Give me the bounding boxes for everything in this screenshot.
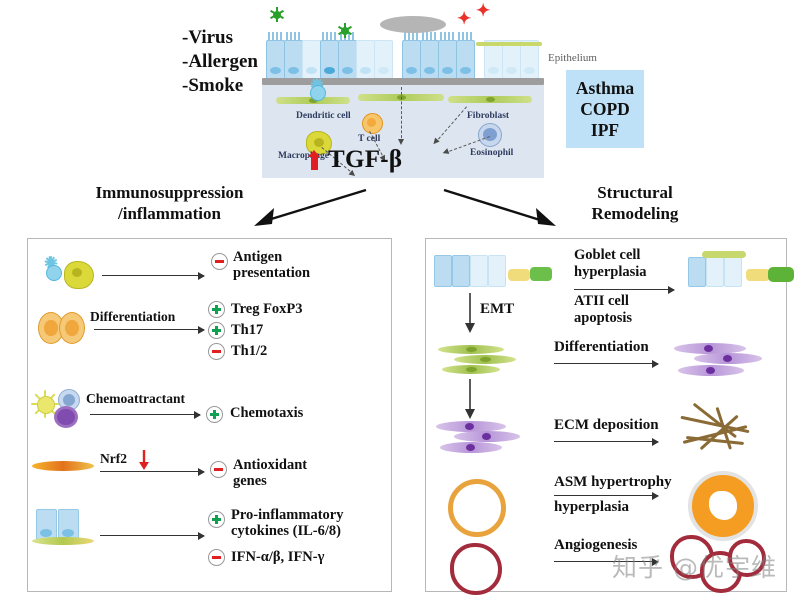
- epithelial-cell: [420, 40, 439, 80]
- submucosa-region: Dendritic cell T cell Macrophage Fibrobl…: [262, 85, 544, 178]
- outcome-chemotaxis: Chemotaxis: [230, 405, 303, 421]
- signal-arrow: [435, 106, 467, 143]
- row-arrow: [102, 275, 204, 276]
- cilia: [456, 32, 473, 41]
- outcome-th17: Th17: [231, 322, 263, 338]
- t-cell-icon: [362, 113, 383, 134]
- disease-asthma: Asthma: [576, 78, 634, 99]
- chemoattractant-label: Chemoattractant: [86, 391, 185, 406]
- minus-sign-icon: [208, 343, 225, 360]
- disease-ipf: IPF: [591, 120, 619, 141]
- virus-particle-icon: [270, 8, 283, 21]
- macrophage-icon: [64, 261, 94, 289]
- outcome-treg-foxp3: Treg FoxP3: [231, 301, 303, 317]
- smoke-cloud-icon: [380, 16, 446, 33]
- structural-remodeling-panel: Goblet cell hyperplasia ATII cell apopto…: [425, 238, 787, 592]
- cilia: [266, 32, 283, 41]
- signal-arrow: [401, 87, 402, 143]
- left-branch-title-line2: /inflammation: [62, 203, 277, 224]
- plus-sign-icon: [206, 406, 223, 423]
- goblet-epithelium-strip-icon: [688, 257, 803, 291]
- outcome-antigen-presentation: Antigen presentation: [233, 249, 310, 281]
- asm-hyperplasia-label: hyperplasia: [554, 499, 629, 516]
- right-branch-arrow: [440, 186, 560, 230]
- nrf2-label: Nrf2: [100, 451, 127, 466]
- flat-cell-icon: [32, 537, 94, 545]
- row-arrow: [554, 363, 658, 364]
- dendritic-cell-icon: [302, 77, 332, 107]
- tgf-beta-up-arrow-icon: [308, 150, 320, 170]
- epithelial-cell: [338, 40, 357, 80]
- ecm-deposition-label: ECM deposition: [554, 417, 659, 434]
- trigger-smoke: -Smoke: [182, 74, 258, 98]
- minus-sign-icon: [210, 461, 227, 478]
- thick-asm-ring-icon: [688, 471, 758, 541]
- virus-particle-icon: [338, 24, 351, 37]
- plus-sign-icon: [208, 511, 225, 528]
- thin-asm-ring-icon: [448, 479, 506, 537]
- row-arrow: [90, 414, 200, 415]
- collagen-fibers-icon: [680, 415, 758, 449]
- disease-box: Asthma COPD IPF: [566, 70, 644, 148]
- trigger-list: -Virus -Allergen -Smoke: [182, 26, 258, 98]
- epithelial-cell: [320, 40, 339, 80]
- outcome-th1-2: Th1/2: [231, 343, 267, 359]
- allergen-icon: ✦: [476, 2, 490, 19]
- outcome-pro-inflammatory-cytokines: Pro-inflammatory cytokines (IL-6/8): [231, 507, 343, 539]
- row-arrow: [554, 495, 658, 496]
- trigger-allergen: -Allergen: [182, 50, 258, 74]
- cilia: [402, 32, 419, 41]
- epithelial-cell: [402, 40, 421, 80]
- goblet-hyperplasia-label: Goblet cell hyperplasia: [574, 247, 647, 281]
- differentiation-label: Differentiation: [90, 309, 175, 324]
- left-branch-title-line1: Immunosuppression: [62, 182, 277, 203]
- outcome-interferons: IFN-α/β, IFN-γ: [231, 549, 324, 565]
- row-arrow: [100, 471, 204, 472]
- watermark: 知乎 @优宇维: [612, 548, 777, 584]
- differentiation-label: Differentiation: [554, 339, 649, 356]
- asm-hypertrophy-label: ASM hypertrophy: [554, 473, 672, 492]
- row-arrow: [94, 329, 204, 330]
- green-fibroblast-icon: [442, 365, 500, 374]
- epithelial-cell: [484, 40, 503, 80]
- epithelial-cell: [356, 40, 375, 80]
- epithelium-strip-icon: [434, 255, 544, 289]
- epithelial-cell: [438, 40, 457, 80]
- down-red-arrow-icon: [138, 449, 150, 471]
- row-arrow: [574, 289, 674, 290]
- green-fibroblast-icon: [454, 355, 516, 364]
- epithelial-cell: [284, 40, 303, 80]
- fibroblast-strip: [448, 96, 532, 103]
- epithelium-label: Epithelium: [548, 52, 597, 64]
- allergen-icon: ✦: [457, 10, 471, 27]
- minus-sign-icon: [211, 253, 228, 270]
- outcome-antioxidant-genes: Antioxidant genes: [233, 457, 307, 489]
- epithelial-cell: [302, 40, 321, 80]
- cilia: [284, 32, 301, 41]
- epithelium-band: [262, 30, 544, 78]
- round-cell-icon: [59, 312, 85, 344]
- flat-cell-icon: [32, 461, 94, 471]
- emt-arrow: [462, 293, 478, 335]
- epithelial-cell: [456, 40, 475, 80]
- t-cell-label: T cell: [358, 134, 380, 144]
- row-arrow: [100, 535, 204, 536]
- cilia: [420, 32, 437, 41]
- minus-sign-icon: [208, 549, 225, 566]
- myofibroblast-icon: [678, 365, 744, 376]
- macrophage-label: Macrophage: [278, 151, 329, 161]
- myofibroblast-icon: [694, 353, 762, 364]
- eosinophil-label: Eosinophil: [470, 148, 513, 158]
- epithelial-cell: [266, 40, 285, 80]
- emt-label: EMT: [480, 301, 514, 318]
- left-branch-title: Immunosuppression /inflammation: [62, 182, 277, 224]
- tgf-beta-label: TGF-β: [328, 146, 402, 174]
- immunosuppression-panel: Antigen presentation Differentiation Tre…: [27, 238, 392, 592]
- mucus-layer: [476, 42, 542, 46]
- disease-copd: COPD: [580, 99, 630, 120]
- right-branch-title-line1: Structural: [560, 182, 710, 203]
- right-branch-title: Structural Remodeling: [560, 182, 710, 224]
- airway-tissue-module: ✦ ✦ Dendritic cell T cell Macrophage Fib…: [262, 30, 544, 178]
- right-branch-title-line2: Remodeling: [560, 203, 710, 224]
- myofibroblast-icon: [440, 442, 502, 453]
- plus-sign-icon: [208, 301, 225, 318]
- dendritic-cell-label: Dendritic cell: [296, 111, 351, 121]
- epithelial-cell: [520, 40, 539, 80]
- myofibroblast-icon: [454, 431, 520, 442]
- vessel-icon: [450, 543, 502, 595]
- plus-sign-icon: [208, 322, 225, 339]
- fibroblast-label: Fibroblast: [467, 111, 509, 121]
- trigger-virus: -Virus: [182, 26, 258, 50]
- epithelial-cell: [374, 40, 393, 80]
- eosinophil-icon: [478, 123, 502, 147]
- green-fibroblast-icon: [438, 345, 504, 354]
- progression-arrow: [462, 379, 478, 421]
- atii-apoptosis-label: ATII cell apoptosis: [574, 293, 632, 327]
- cilia: [438, 32, 455, 41]
- row-arrow: [554, 441, 658, 442]
- cilia: [320, 32, 337, 41]
- left-branch-arrow: [250, 186, 370, 230]
- granulocyte-icon: [54, 406, 78, 428]
- epithelial-cell: [502, 40, 521, 80]
